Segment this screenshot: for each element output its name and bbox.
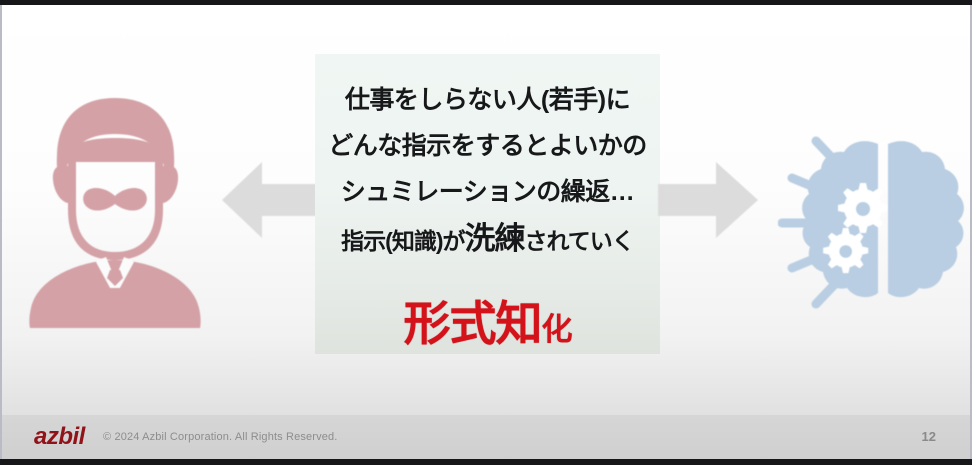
top-edge-bar: [0, 0, 972, 5]
panel-line-1: 仕事をしらない人(若手)に: [315, 78, 660, 123]
left-edge-line: [0, 5, 2, 459]
panel-conclusion-suffix: 化: [542, 312, 572, 347]
panel-line-4-suffix: されていく: [525, 228, 634, 254]
panel-line-4: 指示(知識)が洗練されていく: [315, 215, 660, 265]
panel-conclusion-main: 形式知: [404, 297, 542, 350]
slide-canvas: 仕事をしらない人(若手)に どんな指示をするとよいかの シュミレーションの繰返……: [0, 0, 972, 465]
panel-line-3: シュミレーションの繰返…: [315, 169, 660, 215]
page-number: 12: [922, 429, 936, 444]
panel-conclusion: 形式知化: [315, 285, 660, 354]
center-text-panel: 仕事をしらない人(若手)に どんな指示をするとよいかの シュミレーションの繰返……: [315, 54, 660, 354]
copyright-text: © 2024 Azbil Corporation. All Rights Res…: [103, 431, 338, 443]
azbil-logo: azbil: [34, 423, 85, 451]
person-with-mustache-icon: [24, 92, 206, 330]
arrow-left-icon: [222, 158, 318, 242]
bottom-edge-bar: [0, 459, 972, 465]
slide-footer: azbil © 2024 Azbil Corporation. All Righ…: [0, 415, 972, 459]
panel-line-2: どんな指示をするとよいかの: [315, 123, 660, 169]
brain-right-hemisphere: [888, 141, 964, 297]
brain-with-gears-icon: [778, 128, 972, 314]
arrow-right-icon: [658, 158, 758, 242]
panel-line-4-emphasis: 洗練: [465, 221, 525, 256]
panel-line-4-prefix: 指示(知識)が: [341, 228, 464, 254]
